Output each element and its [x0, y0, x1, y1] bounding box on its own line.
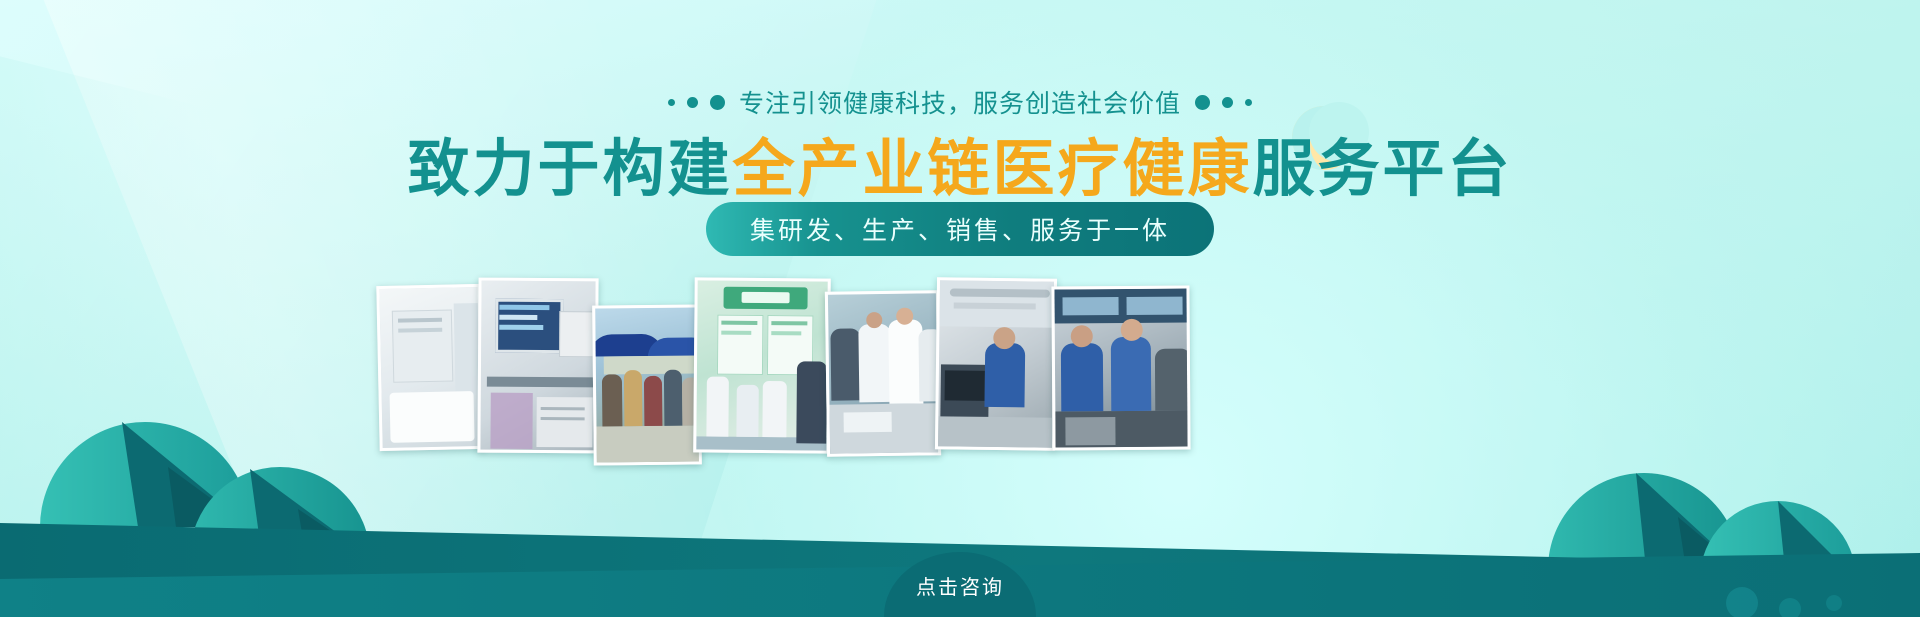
photo-shape [706, 377, 729, 437]
photo-shape [604, 355, 696, 374]
photo-shape [499, 315, 537, 320]
photo-shape [1121, 319, 1143, 341]
headline: 致力于构建全产业链医疗健康服务平台 [0, 118, 1920, 208]
dot-small-icon [1245, 99, 1252, 106]
photo-shape [644, 376, 663, 426]
photo-computer-desk[interactable] [477, 278, 598, 454]
photo-shape [559, 311, 595, 357]
photo-shape [624, 370, 643, 426]
photo-shape [762, 381, 786, 437]
photo-shape [536, 397, 592, 447]
photo-shape [771, 321, 807, 325]
photo-equipment-operator[interactable] [935, 277, 1057, 450]
photo-shape [1071, 325, 1093, 347]
photo-shape [499, 325, 543, 330]
photo-shape [1127, 297, 1183, 315]
photo-shape [1063, 297, 1119, 315]
dot-medium-icon [1222, 97, 1233, 108]
headline-part-2: 全产业链医疗健康 [732, 132, 1252, 205]
photo-shape [602, 374, 623, 426]
photo-shape [954, 302, 1036, 309]
photo-strip [378, 278, 1190, 458]
photo-shape [844, 412, 892, 433]
photo-shape [938, 416, 1057, 450]
subtitle-pill: 集研发、生产、销售、服务于一体 [706, 202, 1214, 256]
tagline-text: 专注引领健康科技，服务创造社会价值 [739, 84, 1181, 120]
dot-large-icon [1195, 95, 1210, 110]
tagline-row: 专注引领健康科技，服务创造社会价值 [0, 84, 1920, 120]
photo-shape [664, 370, 683, 426]
photo-shape [1155, 349, 1191, 411]
photo-shape [490, 393, 532, 449]
photo-shape [390, 391, 475, 443]
photo-shape [830, 328, 861, 400]
photo-shape [1065, 417, 1115, 445]
dot-large-icon [710, 95, 725, 110]
photo-workers-lab[interactable] [1051, 286, 1190, 451]
photo-shape [993, 327, 1015, 349]
photo-outdoor-tents[interactable] [592, 304, 702, 465]
photo-shape [596, 425, 701, 465]
photo-shape [771, 331, 801, 335]
subtitle-pill-wrapper: 集研发、生产、销售、服务于一体 [0, 202, 1920, 256]
photo-shape [499, 305, 549, 310]
photo-shape [1061, 343, 1103, 411]
photo-health-booth[interactable] [693, 277, 831, 453]
photo-shape [742, 292, 790, 303]
photo-shape [984, 343, 1025, 407]
photo-shape [721, 321, 757, 325]
decorative-dots-left [668, 95, 725, 110]
dot-medium-icon [687, 97, 698, 108]
photo-lab-room[interactable] [376, 284, 483, 451]
dot-small-icon [668, 99, 675, 106]
decorative-dots-right [1195, 95, 1252, 110]
photo-shape [1111, 337, 1152, 411]
photo-shape [541, 417, 585, 420]
photo-shape [945, 370, 985, 400]
photo-shape [796, 361, 827, 443]
promo-banner: 专注引领健康科技，服务创造社会价值 致力于构建全产业链医疗健康服务平台 集研发、… [0, 0, 1920, 617]
photo-shape [858, 324, 891, 402]
photo-shape [541, 407, 585, 410]
headline-part-1: 致力于构建 [407, 132, 732, 205]
photo-shape [950, 288, 1050, 297]
headline-part-3: 服务平台 [1253, 132, 1513, 205]
photo-shape [487, 377, 595, 388]
photo-doctors[interactable] [825, 290, 941, 457]
photo-shape [736, 385, 758, 437]
photo-shape [721, 331, 751, 335]
photo-shape [866, 312, 882, 328]
